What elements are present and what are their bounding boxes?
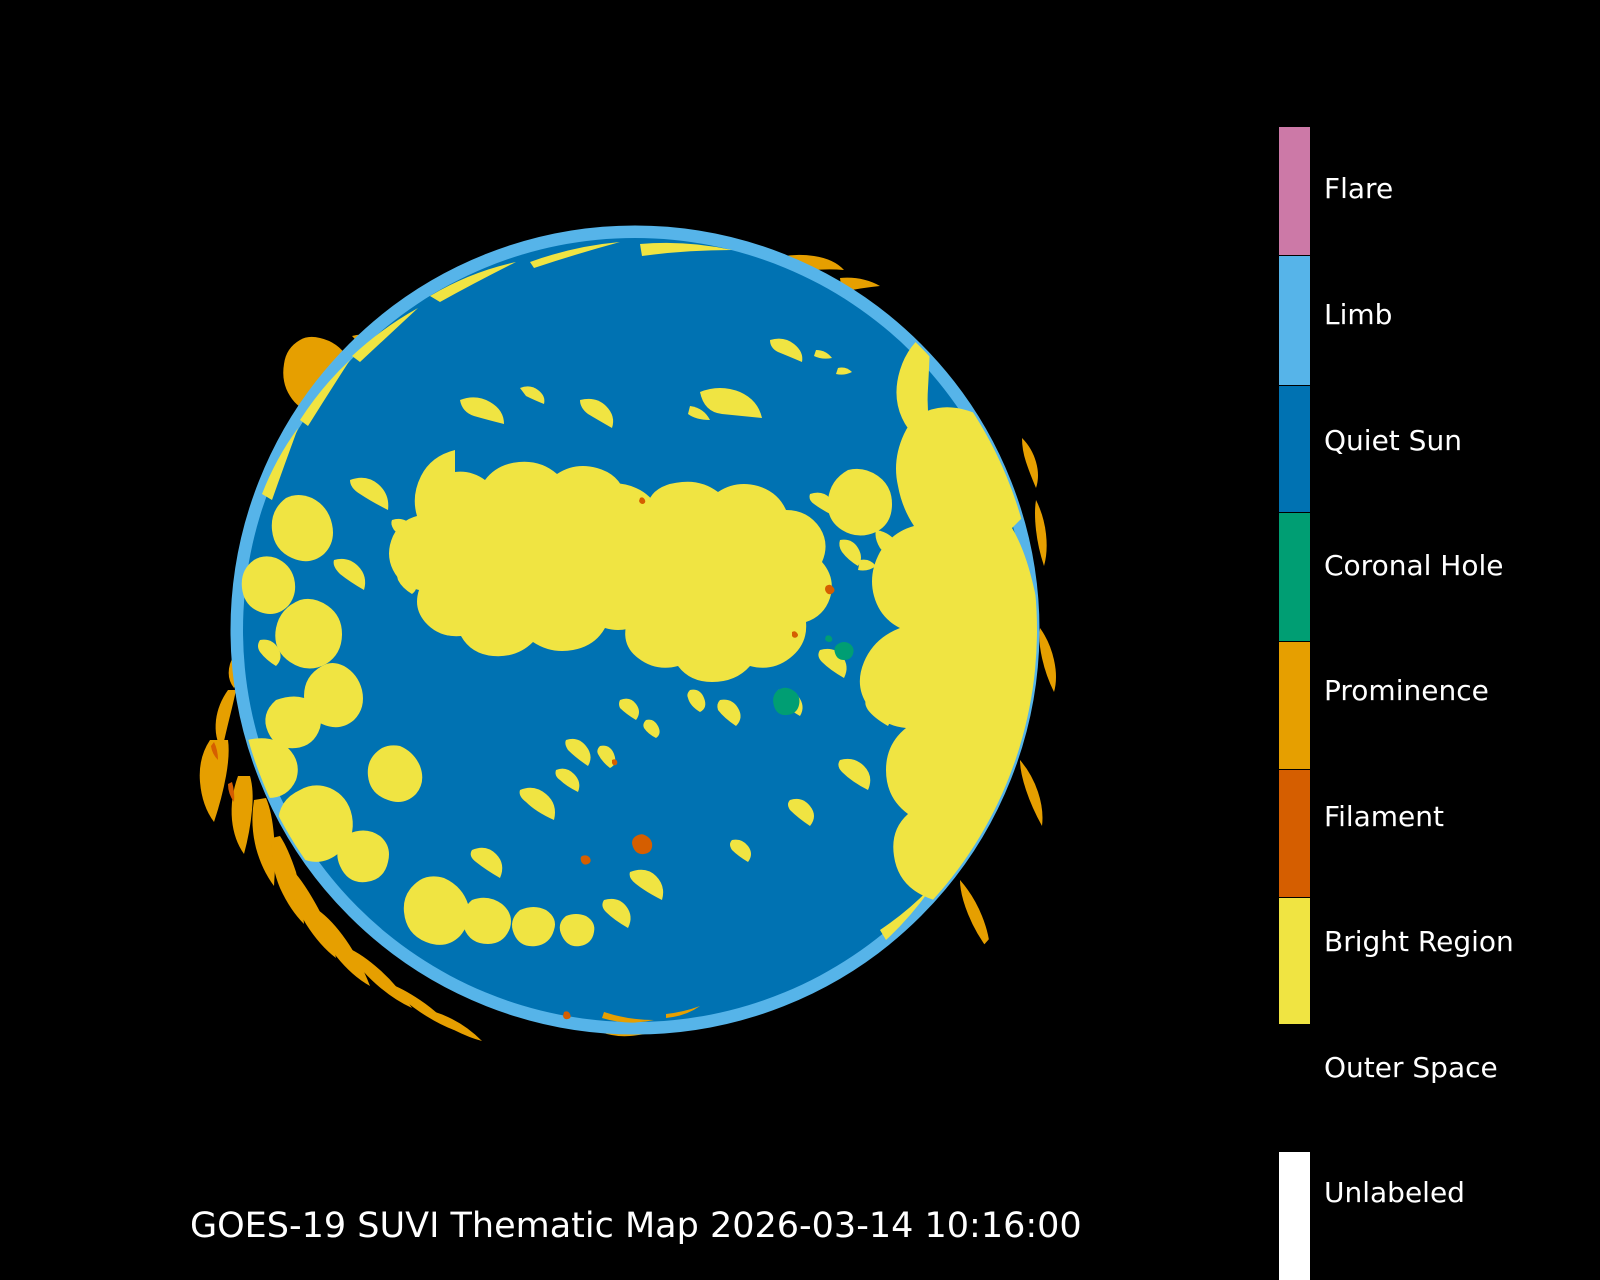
legend-label-filament: Filament — [1324, 802, 1444, 832]
solar-thematic-map: GOES-19 SUVI Thematic Map 2026-03-14 10:… — [0, 0, 1240, 1280]
legend-label-unlabeled: Unlabeled — [1324, 1178, 1465, 1208]
legend-label-outer-space: Outer Space — [1324, 1053, 1498, 1083]
legend-colorbar: Flare Limb Quiet Sun Coronal Hole Promin… — [1279, 0, 1600, 1280]
legend-swatch-bright-region — [1279, 898, 1310, 1024]
legend-swatch-coronal-hole — [1279, 513, 1310, 641]
legend-label-coronal-hole: Coronal Hole — [1324, 551, 1503, 581]
legend-swatch-unlabeled — [1279, 1152, 1310, 1280]
legend-swatch-flare — [1279, 127, 1310, 255]
legend-label-limb: Limb — [1324, 300, 1392, 330]
legend-swatch-limb — [1279, 256, 1310, 385]
suvi-thematic-map-page: GOES-19 SUVI Thematic Map 2026-03-14 10:… — [0, 0, 1600, 1280]
legend-label-prominence: Prominence — [1324, 676, 1489, 706]
legend-swatch-filament — [1279, 770, 1310, 897]
legend-swatch-outer-space — [1279, 1025, 1310, 1151]
legend-swatch-prominence — [1279, 642, 1310, 769]
solar-disk-svg — [0, 0, 1240, 1280]
legend-swatch-quiet-sun — [1279, 386, 1310, 512]
legend-label-flare: Flare — [1324, 174, 1393, 204]
legend-label-bright-region: Bright Region — [1324, 927, 1514, 957]
legend-label-quiet-sun: Quiet Sun — [1324, 426, 1462, 456]
page-title: GOES-19 SUVI Thematic Map 2026-03-14 10:… — [190, 1205, 1082, 1247]
